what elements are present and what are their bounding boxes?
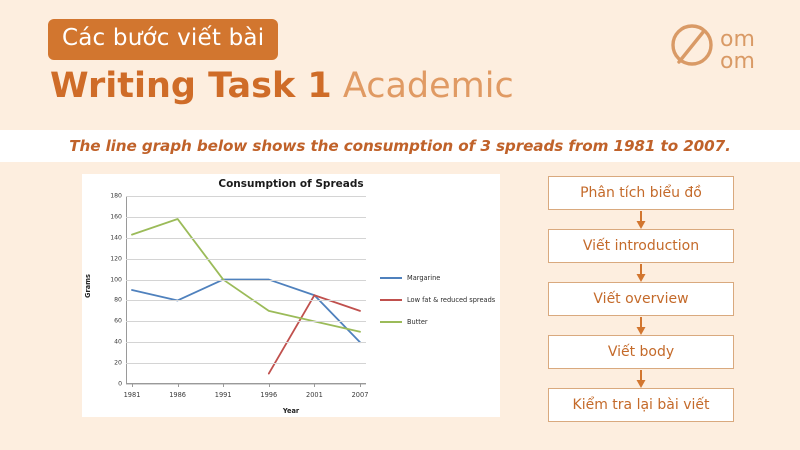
logo-pomom-icon: om om xyxy=(666,20,776,82)
title-secondary: Academic xyxy=(343,66,514,106)
chart-y-tick-label: 160 xyxy=(110,213,122,220)
chart-y-tick-label: 100 xyxy=(110,276,122,283)
flow-step-5[interactable]: Kiểm tra lại bài viết xyxy=(548,388,734,422)
chart-legend-label: Margarine xyxy=(407,274,440,282)
title-primary: Writing Task 1 xyxy=(50,66,332,106)
chart-legend-swatch xyxy=(380,299,402,302)
chart-x-tick-mark xyxy=(269,384,270,387)
chart-x-tick-label: 1996 xyxy=(260,391,277,399)
chart-gridline xyxy=(126,342,366,343)
chart-x-tick-label: 1991 xyxy=(215,391,232,399)
task-prompt: The line graph below shows the consumpti… xyxy=(69,137,731,155)
chart-x-tick-mark xyxy=(360,384,361,387)
chart-series-line xyxy=(269,295,360,373)
chart-gridline xyxy=(126,300,366,301)
chart-title: Consumption of Spreads xyxy=(82,178,500,190)
chart-legend-item: Margarine xyxy=(380,274,495,282)
chart-y-tick-label: 120 xyxy=(110,255,122,262)
chart-gridline xyxy=(126,259,366,260)
chart-gridline xyxy=(126,280,366,281)
chart-gridline xyxy=(126,321,366,322)
chart-x-axis-label: Year xyxy=(82,407,500,415)
chart-x-tick-label: 2007 xyxy=(352,391,369,399)
chart-x-tick-label: 1986 xyxy=(169,391,186,399)
chart-y-tick-label: 80 xyxy=(114,297,122,304)
chart-gridline xyxy=(126,384,366,385)
flow-step-3[interactable]: Viết overview xyxy=(548,282,734,316)
chart-x-tick-mark xyxy=(223,384,224,387)
writing-steps-flowchart: Phân tích biểu đồViết introductionViết o… xyxy=(548,176,734,422)
page-title: Writing Task 1 Academic xyxy=(50,68,514,105)
chart-gridline xyxy=(126,217,366,218)
flow-arrow-down-icon xyxy=(548,210,734,229)
chart-legend-item: Butter xyxy=(380,318,495,326)
chart-y-axis-label: Grams xyxy=(84,274,92,298)
chart-series-line xyxy=(132,280,360,343)
chart-y-tick-label: 0 xyxy=(118,381,122,388)
chart-y-tick-label: 180 xyxy=(110,193,122,200)
slide-root: Các bước viết bài Writing Task 1 Academi… xyxy=(0,0,800,450)
chart-series-layer xyxy=(126,196,366,384)
chart-y-tick-label: 20 xyxy=(114,360,122,367)
chart-panel: Consumption of Spreads Grams Year 020406… xyxy=(82,174,500,417)
flow-step-4[interactable]: Viết body xyxy=(548,335,734,369)
subtitle-band: The line graph below shows the consumpti… xyxy=(0,130,800,162)
chart-x-tick-mark xyxy=(314,384,315,387)
chart-legend: MargarineLow fat & reduced spreadsButter xyxy=(380,274,495,340)
chart-gridline xyxy=(126,363,366,364)
chart-series-line xyxy=(132,219,360,332)
chart-y-tick-label: 140 xyxy=(110,234,122,241)
chart-legend-label: Low fat & reduced spreads xyxy=(407,296,495,304)
chart-legend-swatch xyxy=(380,321,402,324)
flow-arrow-down-icon xyxy=(548,263,734,282)
chart-x-tick-mark xyxy=(178,384,179,387)
chart-legend-item: Low fat & reduced spreads xyxy=(380,296,495,304)
chart-x-tick-mark xyxy=(132,384,133,387)
chart-legend-swatch xyxy=(380,277,402,280)
chart-y-tick-label: 40 xyxy=(114,339,122,346)
section-badge: Các bước viết bài xyxy=(48,19,278,60)
chart-gridline xyxy=(126,238,366,239)
flow-arrow-down-icon xyxy=(548,316,734,335)
flow-arrow-down-icon xyxy=(548,369,734,388)
chart-x-tick-label: 1981 xyxy=(124,391,141,399)
chart-y-tick-label: 60 xyxy=(114,318,122,325)
chart-x-tick-label: 2001 xyxy=(306,391,323,399)
logo-text-bottom: om xyxy=(720,49,755,74)
chart-gridline xyxy=(126,196,366,197)
chart-legend-label: Butter xyxy=(407,318,428,326)
flow-step-1[interactable]: Phân tích biểu đồ xyxy=(548,176,734,210)
flow-step-2[interactable]: Viết introduction xyxy=(548,229,734,263)
chart-plot-area: 0204060801001201401601801981198619911996… xyxy=(126,196,366,384)
